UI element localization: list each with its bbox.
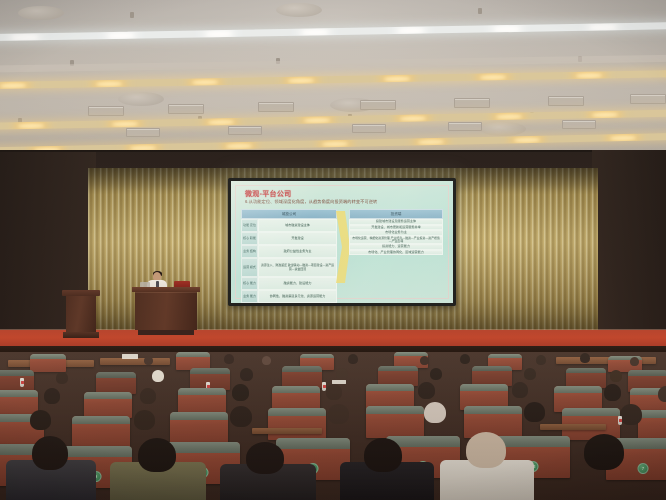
- audience-head: [246, 442, 284, 474]
- podium-body: [66, 296, 96, 332]
- seat[interactable]: [566, 368, 606, 388]
- audience-head: [580, 353, 590, 363]
- audience-desk: [252, 428, 322, 434]
- seat[interactable]: [30, 354, 66, 372]
- water-bottle: [20, 378, 24, 387]
- left-column-header: 城投公司: [241, 209, 337, 219]
- audience-head: [56, 372, 68, 384]
- audience-head: [348, 354, 358, 364]
- seat[interactable]: [472, 366, 512, 386]
- hvac-vent: [352, 124, 386, 133]
- audience-head: [144, 356, 153, 365]
- audience-head: [430, 368, 442, 380]
- hvac-vent: [448, 122, 482, 131]
- table-row: 运营 模式 资源注入、财政返还 政企联动—融资—项目建设—资产运营—资金回流: [241, 258, 337, 277]
- audience-head: [524, 368, 536, 380]
- projection-screen: 微观-平台公司 6.从功能定位、领域深度化角度，从趋势角度向投资端的转变不可逆转…: [231, 181, 453, 303]
- slide-table-left: 城投公司 功能 定位 城市融资建设主体 核心 职能 开发建设 业务 结构 政府公…: [241, 209, 337, 303]
- audience-head: [604, 384, 621, 401]
- hvac-vent: [630, 94, 666, 104]
- seat[interactable]: [0, 370, 34, 392]
- audience-head: [232, 384, 249, 401]
- audience-head: [240, 368, 253, 381]
- table-row: 业务 结构 政府公益性业务为主: [241, 245, 337, 258]
- seat[interactable]: [282, 366, 322, 388]
- audience-head: [630, 357, 639, 366]
- hvac-vent: [548, 96, 584, 106]
- ceiling-dome-fixture: [118, 92, 164, 106]
- audience-head: [460, 354, 470, 364]
- seat[interactable]: [72, 416, 130, 448]
- row-value-left: 资源注入、财政返还 政企联动—融资—项目建设—资产运营—资金回流: [258, 258, 337, 277]
- water-bottle: [618, 416, 622, 425]
- audience-head: [620, 404, 642, 425]
- seat[interactable]: [178, 388, 226, 414]
- audience-head: [584, 434, 624, 470]
- audience-head-bald: [424, 402, 446, 423]
- auditorium-photo: 微观-平台公司 6.从功能定位、领域深度化角度，从趋势角度向投资端的转变不可逆转…: [0, 0, 666, 500]
- speaker-table: [132, 287, 200, 337]
- audience-head: [420, 356, 429, 365]
- row-value-left: 融资能力、建设能力: [258, 277, 337, 290]
- slide-table-right: 投资端 投建城市建设及服务运营主体 开发建设、城市更新和运营服务并举 市场化业务…: [349, 209, 443, 255]
- row-value-left: 政府公益性业务为主: [258, 245, 337, 258]
- audience-head: [364, 438, 402, 472]
- table-skirt: [138, 330, 194, 335]
- audience-area: 6 9 10 11 8 13 7: [0, 352, 666, 500]
- audience-head-bald: [466, 432, 506, 468]
- audience-head: [536, 355, 546, 365]
- table-row: 业务 能力 协同性、融资渠道多元化、资源运营能力: [241, 290, 337, 303]
- ceiling-dome-fixture: [18, 6, 64, 20]
- hvac-vent: [126, 128, 160, 137]
- podium: [62, 290, 100, 338]
- ceiling-hanger: [130, 12, 134, 18]
- audience-head: [230, 406, 252, 427]
- audience-head: [610, 370, 622, 382]
- row-category: 核心 职能: [241, 232, 258, 245]
- audience-head: [262, 356, 271, 365]
- slide-subtitle: 6.从功能定位、领域深度化角度，从趋势角度向投资端的转变不可逆转: [245, 199, 377, 205]
- row-value-left: 开发建设: [258, 232, 337, 245]
- audience-head: [326, 384, 342, 400]
- audience-head: [32, 436, 68, 470]
- audience-head: [30, 410, 51, 430]
- audience-desk: [540, 424, 606, 430]
- row-category: 运营 模式: [241, 258, 258, 277]
- audience-head: [524, 402, 545, 422]
- hvac-vent: [228, 126, 262, 135]
- hvac-vent: [562, 120, 596, 129]
- hvac-vent: [454, 98, 490, 108]
- hvac-vent: [168, 104, 204, 114]
- seat[interactable]: [96, 372, 136, 394]
- audience-head: [418, 382, 435, 399]
- table-row: 核心 职能 开发建设: [241, 232, 337, 245]
- audience-head: [224, 354, 234, 364]
- seat[interactable]: [378, 366, 418, 386]
- audience-head: [138, 438, 176, 472]
- audience-head: [44, 388, 60, 404]
- row-category: 业务 结构: [241, 245, 258, 258]
- table-row: 功能 定位 城市融资建设主体: [241, 219, 337, 232]
- table-row: 核心 能力 融资能力、建设能力: [241, 277, 337, 290]
- right-column-header: 投资端: [349, 209, 443, 219]
- seat[interactable]: [84, 392, 132, 418]
- hvac-vent: [360, 100, 396, 110]
- ceiling-hanger: [478, 8, 482, 14]
- seat[interactable]: [190, 368, 230, 390]
- audience-head: [134, 410, 155, 430]
- audience-head: [140, 388, 156, 404]
- audience-head: [328, 404, 349, 424]
- seat[interactable]: [170, 412, 228, 444]
- ceiling-dome-fixture: [276, 3, 322, 17]
- ceiling-dome-fixture: [480, 122, 526, 136]
- hvac-vent: [88, 106, 124, 116]
- audience-paper: [122, 354, 138, 359]
- slide-title: 微观-平台公司: [245, 189, 291, 199]
- audience-desk: [100, 358, 170, 365]
- right-dark-wall: [592, 150, 666, 342]
- audience-head: [512, 382, 528, 398]
- seat[interactable]: [268, 408, 326, 440]
- projection-screen-frame: 微观-平台公司 6.从功能定位、领域深度化角度，从趋势角度向投资端的转变不可逆转…: [228, 178, 456, 306]
- hvac-vent: [258, 102, 294, 112]
- row-category: 业务 能力: [241, 290, 258, 303]
- row-value-right: 市场化运营、精细化资源管理 产业培育—融资—产业投资—资产增值—产业反哺: [349, 236, 443, 245]
- table-front-panel: [135, 292, 197, 330]
- row-category: 核心 能力: [241, 277, 258, 290]
- ceiling: [0, 0, 666, 158]
- row-value-left: 协同性、融资渠道多元化、资源运营能力: [258, 290, 337, 303]
- podium-base: [63, 332, 99, 338]
- row-value-left: 城市融资建设主体: [258, 219, 337, 232]
- audience-head: [658, 386, 666, 402]
- seat[interactable]: [366, 406, 424, 438]
- audience-head: [336, 368, 348, 380]
- row-value-right: 市场化、产业管理协同化、区域运营能力: [349, 250, 443, 256]
- row-category: 功能 定位: [241, 219, 258, 232]
- audience-head: [152, 370, 164, 382]
